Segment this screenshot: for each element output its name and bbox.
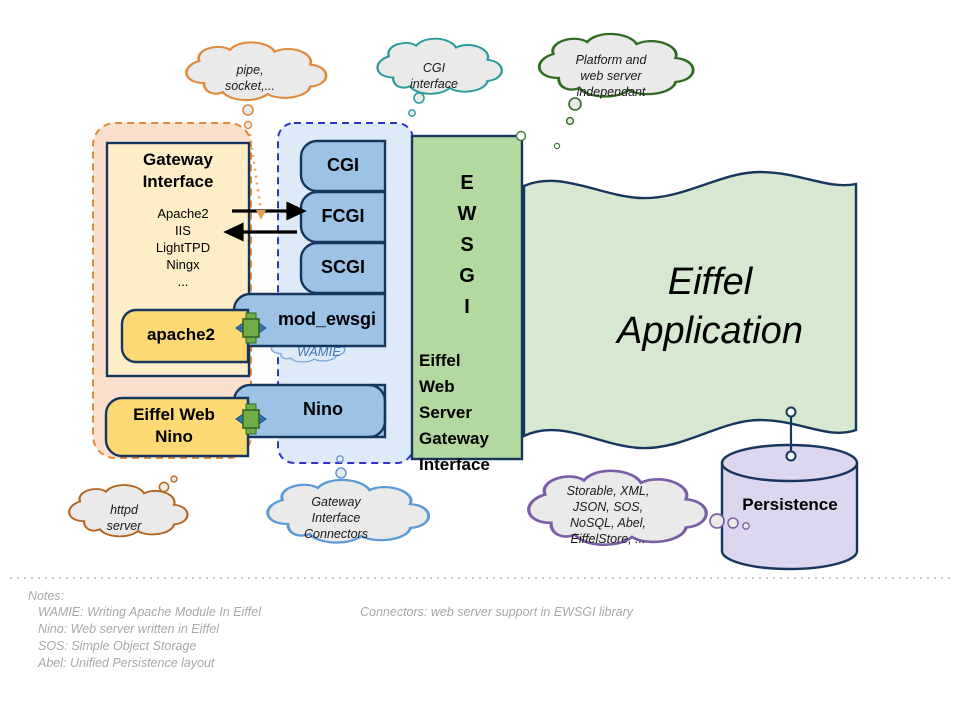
server-list-item: LightTPD (128, 239, 238, 256)
ewsgi-letter: I (432, 292, 502, 323)
cloud-line: EiffelStore, ... (536, 531, 680, 547)
cloud-line: web server (543, 68, 679, 84)
cloud-text-httpd-server: httpd server (74, 502, 174, 534)
notes-left-list: WAMIE: Writing Apache Module In Eiffel N… (38, 604, 261, 672)
note-item: Connectors: web server support in EWSGI … (360, 604, 633, 621)
server-list-item: IIS (128, 222, 238, 239)
eiffel-web-nino-line-1: Eiffel Web (110, 404, 238, 426)
application-persistence-link (787, 408, 796, 461)
ewsgi-expansion-line: Eiffel (419, 348, 525, 374)
cloud-line: socket,... (190, 78, 310, 94)
ewsgi-expansion: Eiffel Web Server Gateway Interface (419, 348, 525, 478)
connector-label-fcgi[interactable]: FCGI (301, 206, 385, 227)
cloud-line: NoSQL, Abel, (536, 515, 680, 531)
connector-label-scgi[interactable]: SCGI (301, 257, 385, 278)
note-item: WAMIE: Writing Apache Module In Eiffel (38, 604, 261, 621)
ewsgi-acronym: E W S G I (432, 168, 502, 323)
wamie-badge: WAMIE (277, 344, 361, 359)
connector-label-nino[interactable]: Nino (258, 399, 388, 420)
cloud-line: interface (382, 76, 486, 92)
ewsgi-letter: S (432, 230, 502, 261)
persistence-label: Persistence (722, 495, 858, 515)
cloud-line: pipe, (190, 62, 310, 78)
cloud-line: Storable, XML, (536, 483, 680, 499)
cloud-line: CGI (382, 60, 486, 76)
server-list-item: Ningx (128, 256, 238, 273)
ewsgi-letter: E (432, 168, 502, 199)
eiffel-application-label: Eiffel Application (560, 258, 860, 356)
cloud-text-persistence-formats: Storable, XML, JSON, SOS, NoSQL, Abel, E… (536, 483, 680, 547)
server-list-item: Apache2 (128, 205, 238, 222)
cloud-line: httpd (74, 502, 174, 518)
ewsgi-expansion-line: Gateway (419, 426, 525, 452)
gateway-interface-title-line-2: Interface (110, 171, 246, 193)
notes-right-list: Connectors: web server support in EWSGI … (360, 604, 633, 621)
cloud-line: independant (543, 84, 679, 100)
eiffel-web-nino-label[interactable]: Eiffel Web Nino (110, 404, 238, 448)
apache2-box-label[interactable]: apache2 (126, 324, 236, 346)
server-list-item: ... (128, 273, 238, 290)
notes-heading: Notes: (28, 588, 64, 605)
cloud-text-cgi-interface: CGI interface (382, 60, 486, 92)
note-item: Nino: Web server written in Eiffel (38, 621, 261, 638)
note-item: SOS: Simple Object Storage (38, 638, 261, 655)
cloud-line: JSON, SOS, (536, 499, 680, 515)
connector-label-mod-ewsgi[interactable]: mod_ewsgi (266, 309, 388, 330)
ewsgi-letter: W (432, 199, 502, 230)
eiffel-web-nino-line-2: Nino (110, 426, 238, 448)
cloud-line: server (74, 518, 174, 534)
diagram-canvas: Gateway Interface Apache2 IIS LightTPD N… (0, 0, 960, 720)
ewsgi-expansion-line: Interface (419, 452, 525, 478)
gateway-interface-title-line-1: Gateway (110, 149, 246, 171)
cloud-line: Platform and (543, 52, 679, 68)
cloud-line: Connectors (276, 526, 396, 542)
ewsgi-letter: G (432, 261, 502, 292)
connector-label-cgi[interactable]: CGI (301, 155, 385, 176)
gateway-interface-title: Gateway Interface (110, 149, 246, 193)
eiffel-application-line-2: Application (560, 307, 860, 356)
cloud-text-gateway-connectors: Gateway Interface Connectors (276, 494, 396, 542)
ewsgi-expansion-line: Web (419, 374, 525, 400)
eiffel-application-line-1: Eiffel (560, 258, 860, 307)
gateway-server-list: Apache2 IIS LightTPD Ningx ... (128, 205, 238, 290)
ewsgi-expansion-line: Server (419, 400, 525, 426)
cloud-text-platform-independant: Platform and web server independant (543, 52, 679, 100)
cloud-text-pipe-socket: pipe, socket,... (190, 62, 310, 94)
cloud-line: Interface (276, 510, 396, 526)
note-item: Abel: Unified Persistence layout (38, 655, 261, 672)
cloud-line: Gateway (276, 494, 396, 510)
